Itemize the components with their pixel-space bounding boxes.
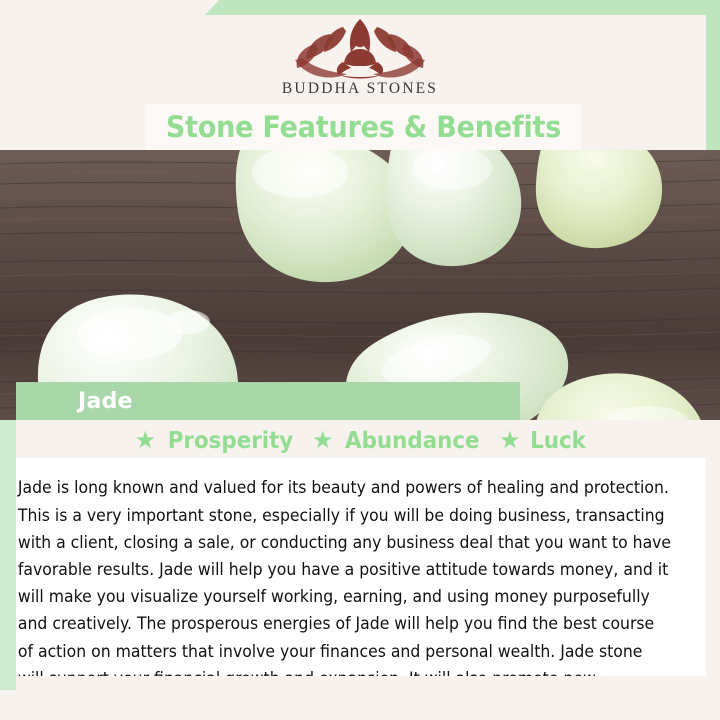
lotus-meditation-icon (285, 14, 435, 82)
stone-name-bar: Jade (16, 382, 520, 420)
keyword-label: Luck (530, 428, 586, 454)
star-icon: ★ (134, 429, 156, 453)
brand-logo: BUDDHA STONES (0, 14, 720, 106)
stone-photo (0, 150, 720, 420)
brand-name: BUDDHA STONES (282, 80, 438, 98)
star-icon: ★ (499, 429, 521, 453)
stone-photo-image (0, 150, 720, 420)
bottom-spacer (16, 676, 706, 720)
title-banner: Stone Features & Benefits (145, 104, 581, 150)
page-title: Stone Features & Benefits (165, 110, 560, 144)
star-icon: ★ (312, 429, 334, 453)
keyword-label: Abundance (346, 428, 480, 454)
keyword-item-prosperity: ★ Prosperity (134, 428, 297, 454)
decorative-band-top (205, 0, 720, 15)
keyword-item-abundance: ★ Abundance (312, 428, 485, 454)
keyword-list: ★ Prosperity ★ Abundance ★ Luck (16, 424, 706, 458)
decorative-band-left-text (0, 420, 16, 690)
keyword-item-luck: ★ Luck (499, 428, 587, 454)
stone-info-card: BUDDHA STONES Stone Features & Benefits (0, 0, 720, 720)
keyword-label: Prosperity (168, 428, 294, 454)
description-area: Jade is long known and valued for its be… (16, 458, 706, 698)
stone-name: Jade (78, 389, 133, 414)
